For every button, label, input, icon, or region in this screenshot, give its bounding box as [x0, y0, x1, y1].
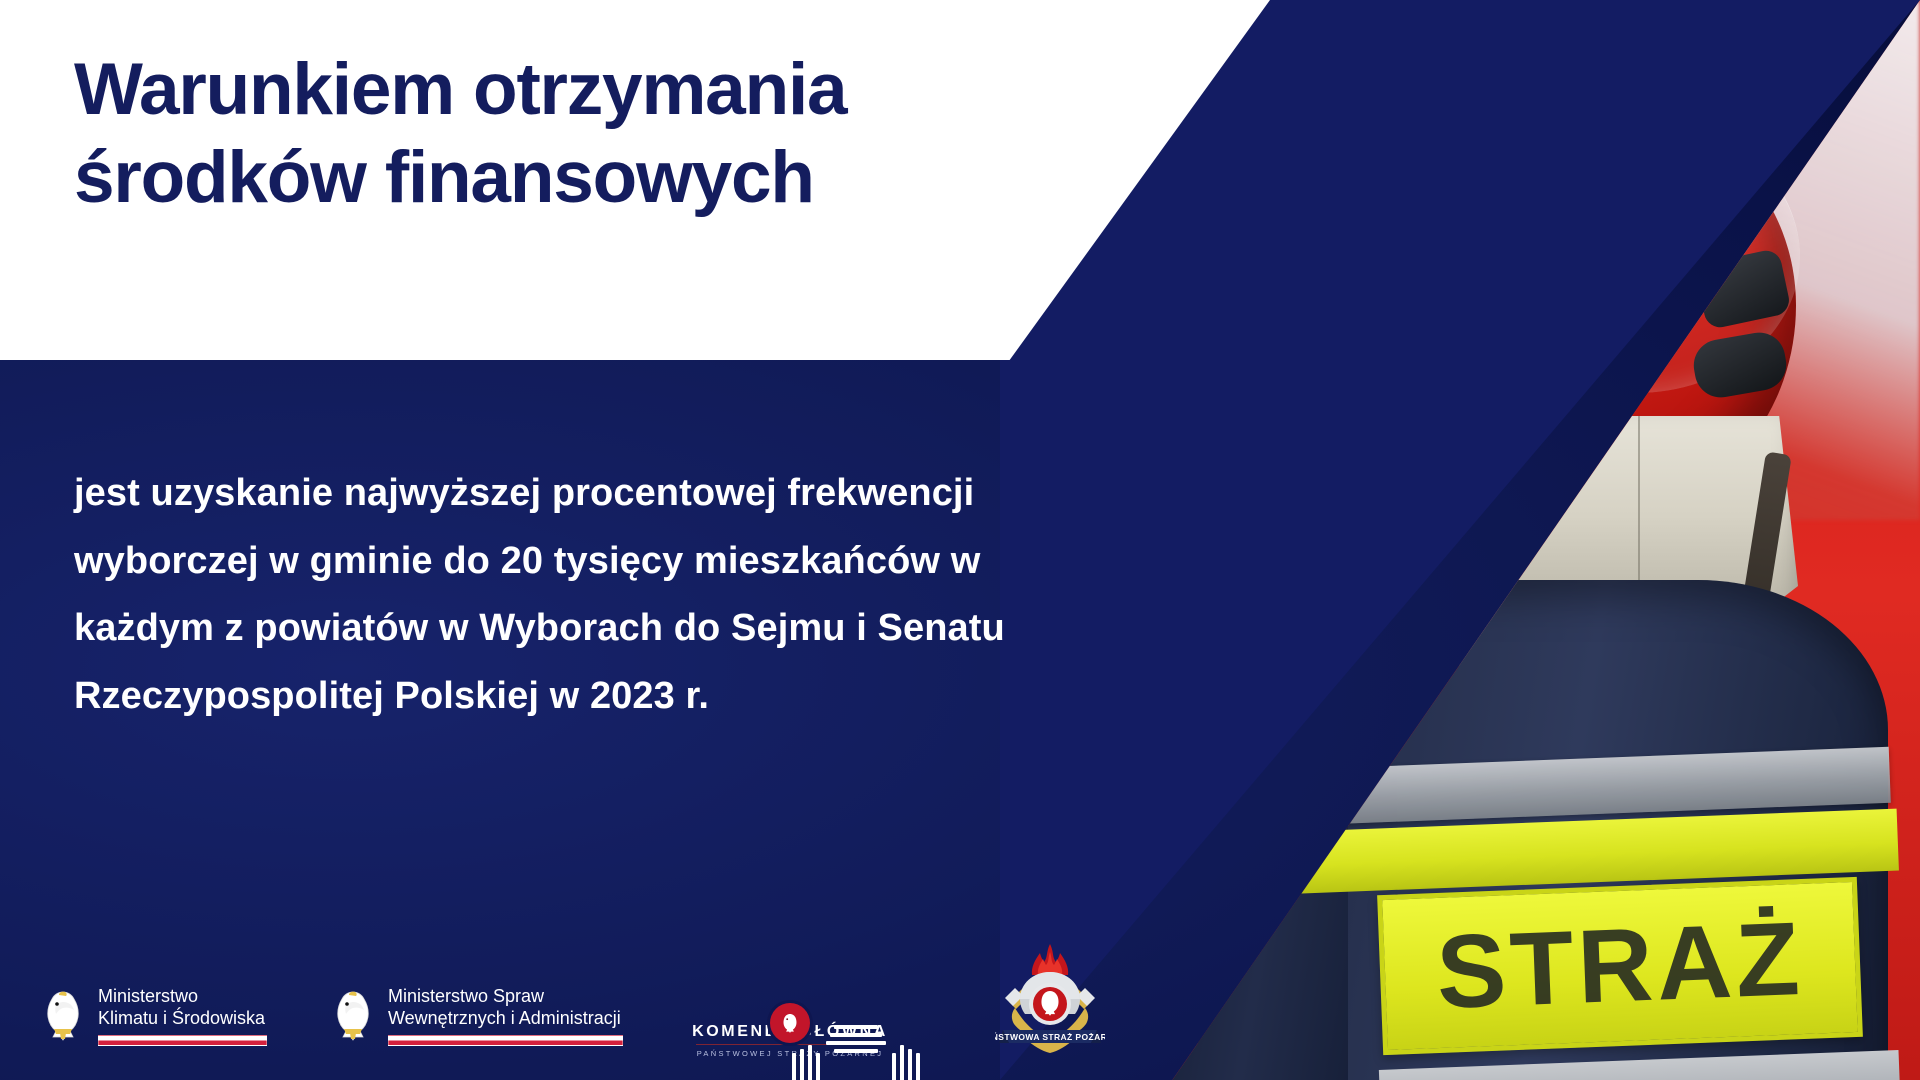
logo-panstwowa-straz-pozarna[interactable]: PAŃSTWOWA STRAŻ POŻARNA — [995, 942, 1105, 1062]
polish-eagle-icon — [778, 1011, 802, 1035]
psp-banner-text: PAŃSTWOWA STRAŻ POŻARNA — [995, 1032, 1105, 1042]
logo-line-2: Wewnętrznych i Administracji — [388, 1008, 621, 1030]
footer-logos: Ministerstwo Klimatu i Środowiska Minist… — [0, 920, 1200, 1080]
logo-komenda-glowna-psp[interactable]: KOMENDA GŁÓWNA PAŃSTWOWEJ STRAŻY POŻARNE… — [690, 1023, 890, 1058]
psp-emblem-icon: PAŃSTWOWA STRAŻ POŻARNA — [995, 942, 1105, 1062]
body-line-2: wyborczej w gminie do 20 tysięcy mieszka… — [74, 528, 1254, 596]
logo-text-block: Ministerstwo Klimatu i Środowiska — [98, 986, 265, 1046]
body-line-4: Rzeczypospolitej Polskiej w 2023 r. — [74, 663, 1254, 731]
body-line-3: każdym z powiatów w Wyborach do Sejmu i … — [74, 595, 1254, 663]
logo-line-2: Klimatu i Środowiska — [98, 1008, 265, 1030]
polish-eagle-icon — [330, 989, 376, 1043]
body-line-1: jest uzyskanie najwyższej procentowej fr… — [74, 460, 1254, 528]
headline-line-2: środków finansowych — [74, 134, 1254, 222]
polish-eagle-icon — [40, 989, 86, 1043]
logo-line-1: Ministerstwo — [98, 986, 265, 1008]
logo-line-1: Ministerstwo Spraw — [388, 986, 621, 1008]
polish-flag-bar — [98, 1035, 267, 1046]
logo-ministerstwo-spraw-wewnetrznych-i-administracji[interactable]: Ministerstwo Spraw Wewnętrznych i Admini… — [330, 986, 621, 1046]
body-text: jest uzyskanie najwyższej procentowej fr… — [74, 460, 1254, 731]
straz-patch-text: STRAŻ — [1435, 907, 1805, 1025]
poster-canvas: STRAŻ Warunkiem otrzymania środków finan… — [0, 0, 1920, 1080]
eagle-roundel-icon — [770, 1003, 810, 1043]
straz-back-patch: STRAŻ — [1377, 877, 1863, 1055]
page-title: Warunkiem otrzymania środków finansowych — [74, 46, 1254, 221]
logo-text-block: Ministerstwo Spraw Wewnętrznych i Admini… — [388, 986, 621, 1046]
polish-flag-bar — [388, 1035, 623, 1046]
logo-ministerstwo-klimatu-i-srodowiska[interactable]: Ministerstwo Klimatu i Środowiska — [40, 986, 265, 1046]
headline-line-1: Warunkiem otrzymania — [74, 46, 1254, 134]
